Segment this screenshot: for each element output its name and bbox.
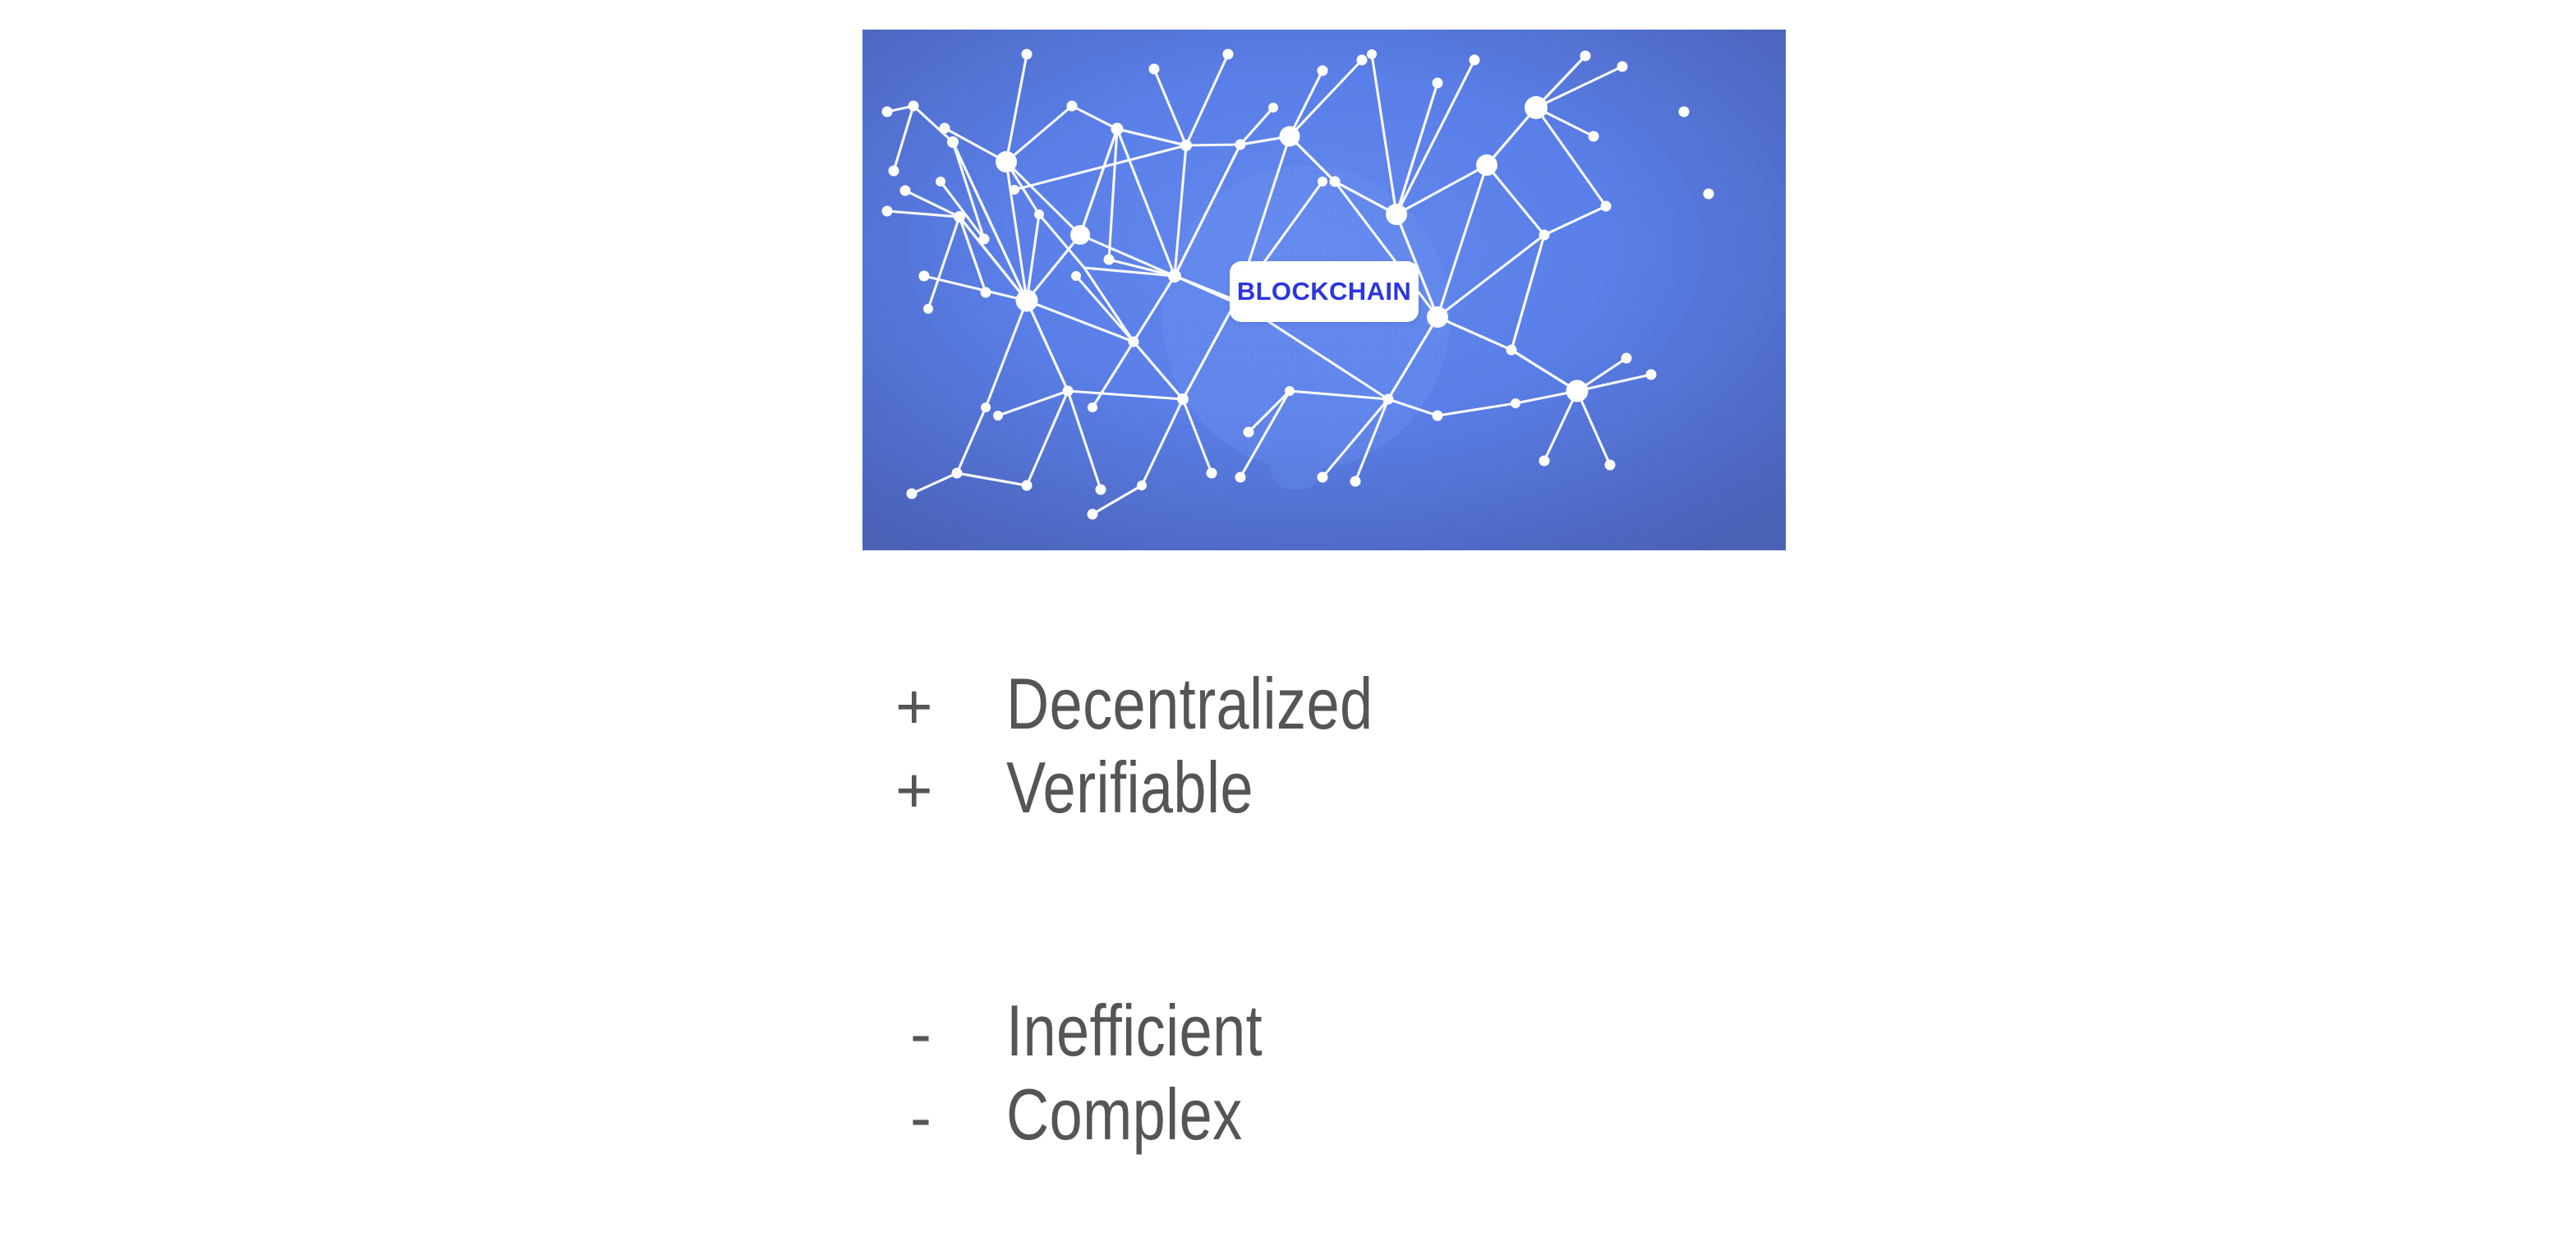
plus-icon: + [895, 748, 1006, 832]
list-item: - Complex [910, 1073, 1319, 1157]
list-item: + Decentralized [895, 662, 1454, 746]
pros-list: + Decentralized + Verifiable [895, 662, 1454, 830]
cons-item-label: Inefficient [1006, 989, 1263, 1073]
plus-icon: + [895, 664, 1006, 748]
cons-item-label: Complex [1006, 1073, 1243, 1157]
list-item: - Inefficient [910, 989, 1319, 1073]
blockchain-center-label: BLOCKCHAIN [1230, 261, 1419, 322]
pros-item-label: Decentralized [1006, 662, 1373, 746]
minus-icon: - [910, 991, 1006, 1075]
pros-item-label: Verifiable [1006, 746, 1253, 830]
slide-canvas: BLOCKCHAIN + Decentralized + Verifiable … [0, 0, 2576, 1237]
list-item: + Verifiable [895, 746, 1454, 830]
blockchain-center-label-text: BLOCKCHAIN [1237, 277, 1411, 306]
cons-list: - Inefficient - Complex [910, 989, 1319, 1157]
minus-icon: - [910, 1075, 1006, 1159]
